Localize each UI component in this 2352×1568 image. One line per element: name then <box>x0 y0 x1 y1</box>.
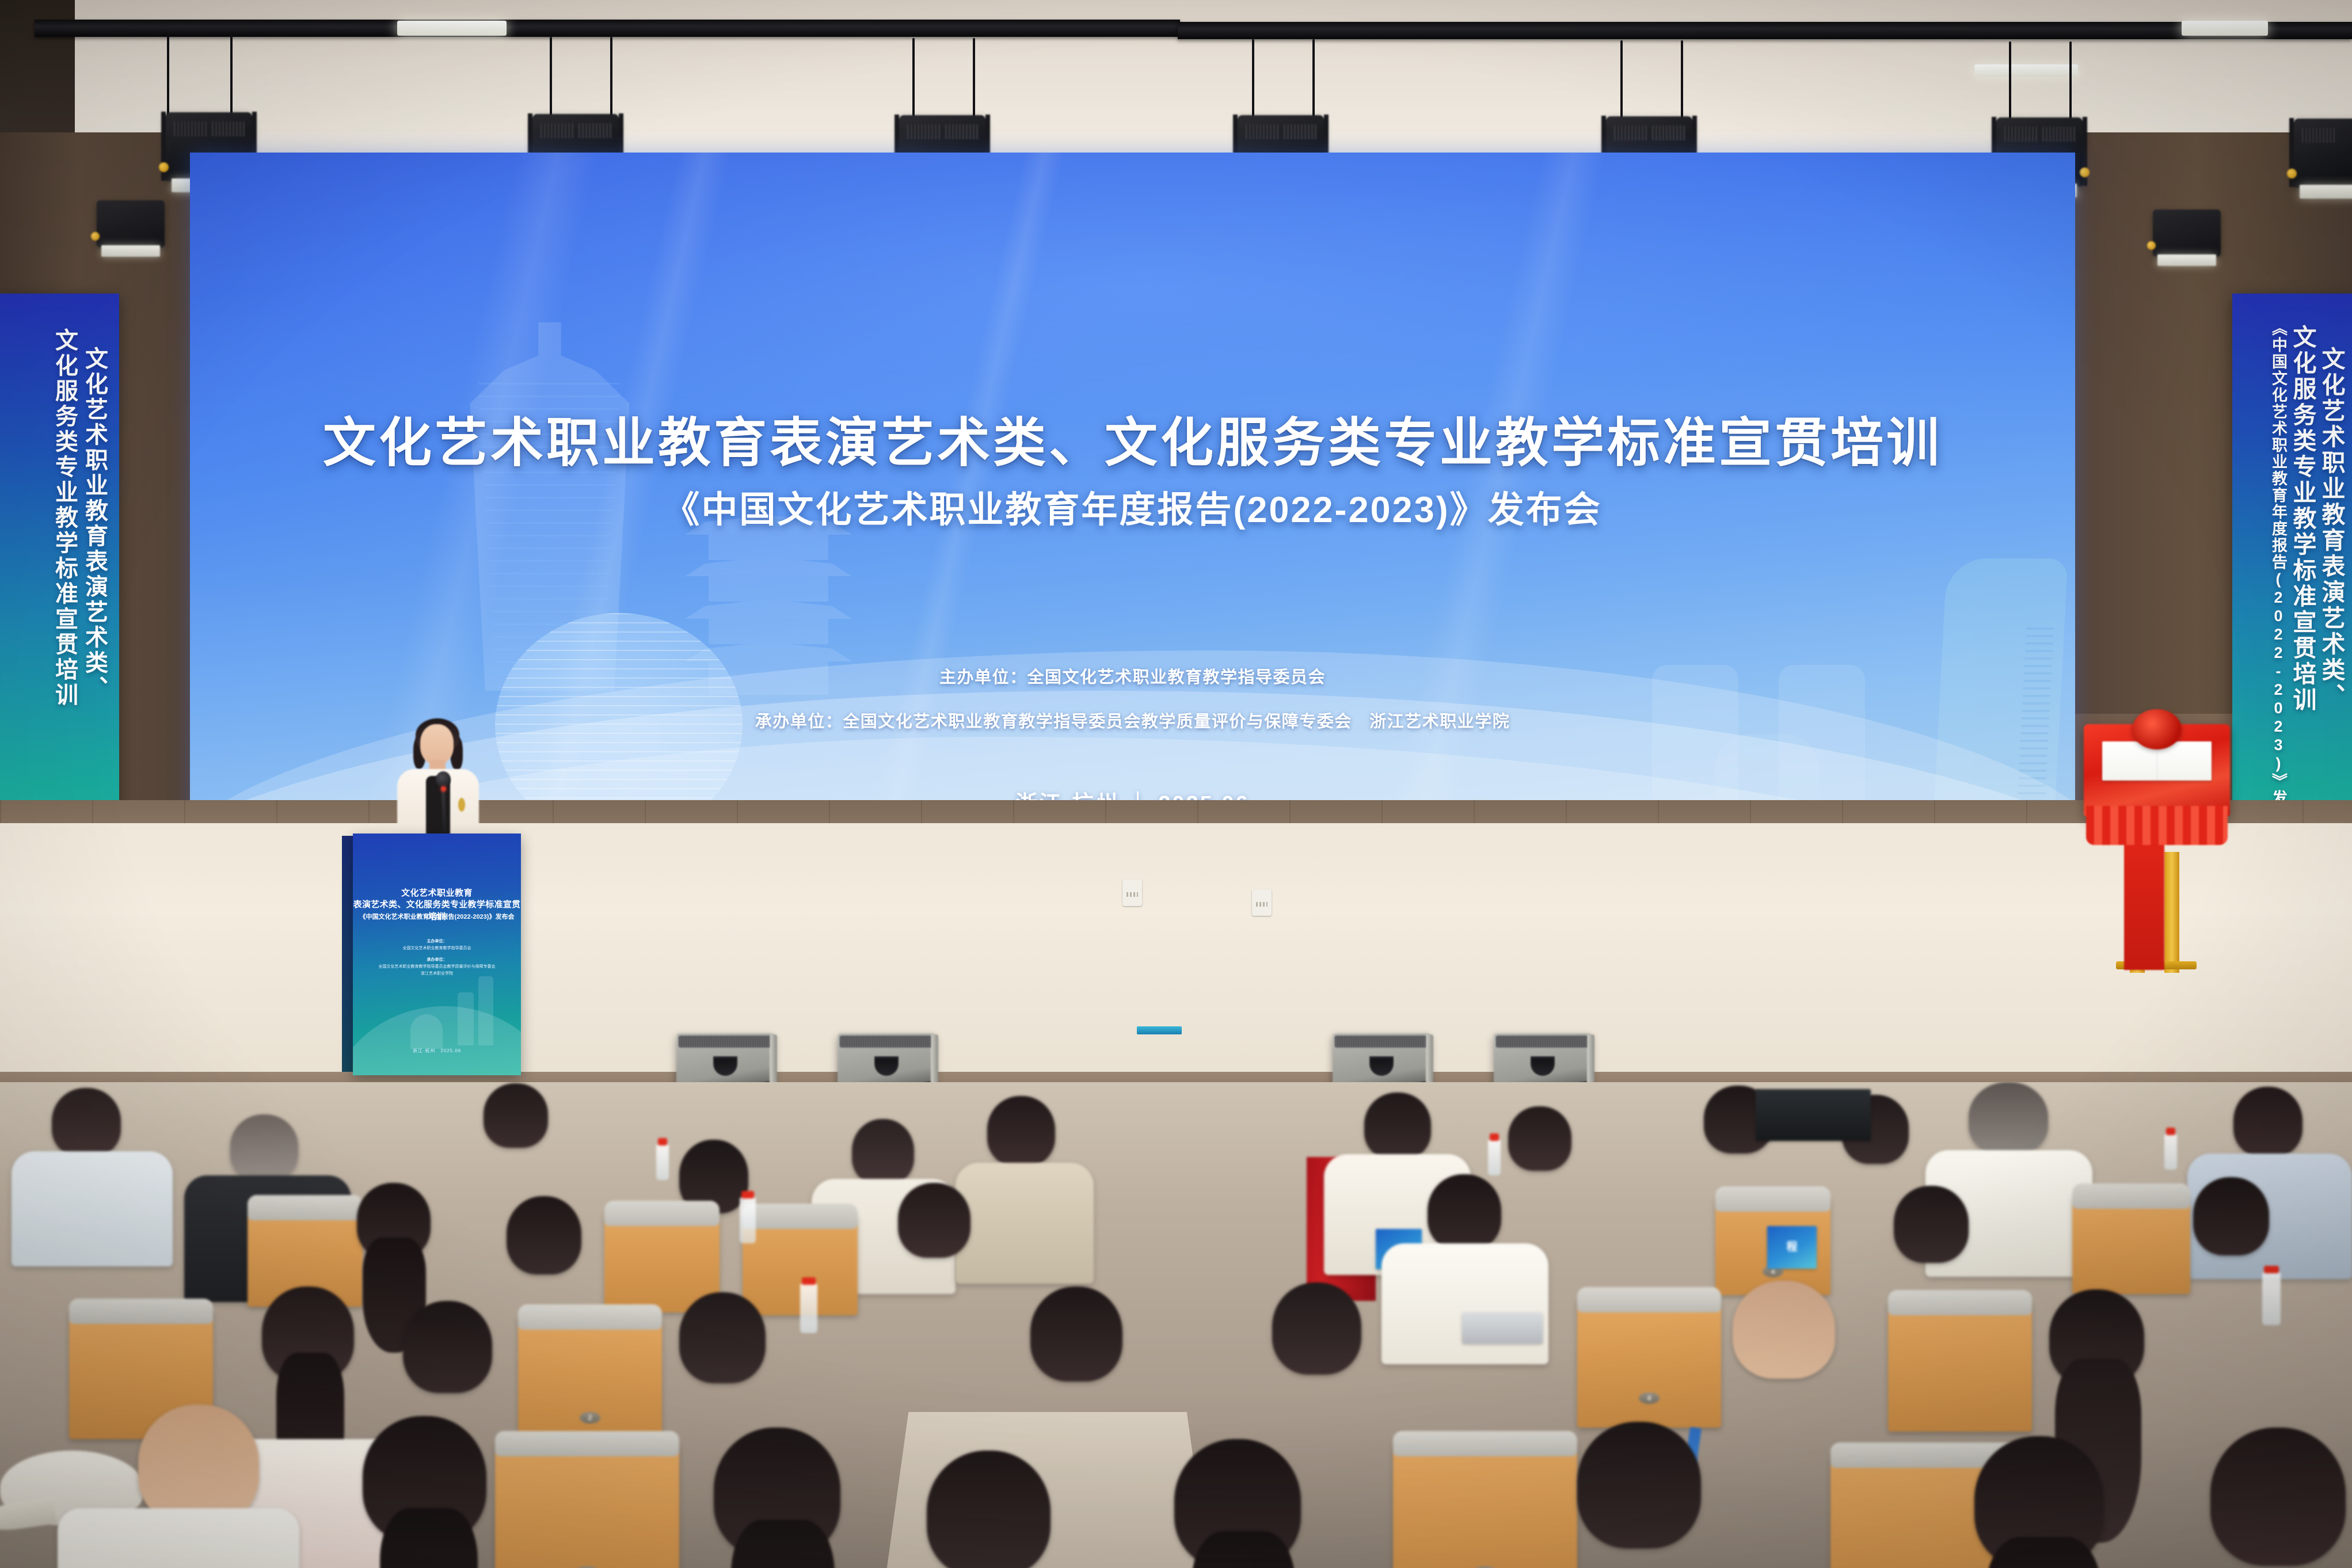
audience-shoulders <box>956 1163 1094 1284</box>
program-booklet: 程 <box>1767 1226 1817 1269</box>
audience-head <box>230 1114 298 1181</box>
unveiling-cloth-skirt <box>2086 806 2228 845</box>
audience-head <box>403 1301 492 1393</box>
screen-subtitle: 《中国文化艺术职业教育年度报告(2022-2023)》发布会 <box>190 481 2075 533</box>
screen-main-title: 文化艺术职业教育表演艺术类、文化服务类专业教学标准宣贯培训 <box>190 400 2075 477</box>
audience-head <box>2233 1087 2302 1157</box>
speaker-head <box>420 724 454 764</box>
audience-head <box>2193 1177 2269 1255</box>
podium-organizer-value: 全国文化艺术职业教育教学指导委员会 <box>353 945 521 951</box>
laptop <box>1462 1312 1543 1344</box>
right-banner-column-3: 《中国文化艺术职业教育年度报告(2022-2023)》发布会 <box>2267 320 2290 840</box>
audience-head <box>1733 1281 1835 1379</box>
podium-organizer-label: 主办单位： <box>353 938 521 944</box>
water-bottle <box>800 1284 817 1333</box>
microphone-head <box>436 771 451 787</box>
screen-organizer-line: 主办单位：全国文化艺术职业教育教学指导委员会 <box>190 664 2075 688</box>
audience-head <box>484 1083 548 1148</box>
audience-head <box>852 1119 914 1185</box>
auditorium-seat: 2 <box>518 1312 662 1448</box>
floor-marker-tape <box>1137 1026 1182 1034</box>
microphone-led-icon <box>441 786 446 791</box>
left-banner-column-1: 文化艺术职业教育表演艺术类、 <box>78 347 111 701</box>
ceiling-light-strip <box>1974 64 2078 77</box>
audience-head <box>1364 1093 1431 1159</box>
seat-number: 2 <box>580 1412 600 1424</box>
water-bottle <box>2262 1272 2281 1325</box>
audience-head <box>679 1292 766 1383</box>
lighting-truss-left <box>35 20 1180 37</box>
laptop <box>1756 1089 1871 1141</box>
audience-area: 4 程 2 4 2 4 <box>0 1082 2352 1568</box>
screen-host-line: 承办单位：全国文化艺术职业教育教学指导委员会教学质量评价与保障专委会 浙江艺术职… <box>190 708 2075 732</box>
conference-hall-photo: 文化艺术职业教育表演艺术类、文化服务类专业教学标准宣贯培训 《中国文化艺术职业教… <box>0 0 2352 1568</box>
audience-head <box>1428 1174 1501 1250</box>
audience-head <box>52 1088 121 1157</box>
lighting-truss-right <box>1178 22 2352 39</box>
audience-head <box>898 1183 971 1258</box>
wall-outlet-plate <box>1252 889 1272 916</box>
wall-outlet-plate <box>1122 880 1142 906</box>
seat-number: 4 <box>1639 1392 1660 1404</box>
stage-light-fixture-small <box>97 200 165 248</box>
left-banner-column-2: 文化服务类专业教学标准宣贯培训 <box>48 328 81 708</box>
stage-light-fixture <box>2294 119 2352 188</box>
auditorium-seat <box>2072 1192 2190 1294</box>
audience-head <box>1577 1422 1701 1548</box>
easel-leg <box>2164 852 2179 973</box>
water-bottle <box>1488 1140 1501 1175</box>
stage-light-fixture-small <box>2153 210 2221 257</box>
audience-ponytail <box>380 1508 478 1568</box>
speaker-brooch <box>458 798 465 812</box>
auditorium-seat: 4 <box>1393 1439 1577 1568</box>
podium-host-value-2: 浙江艺术职业学院 <box>353 971 521 976</box>
auditorium-seat: 2 <box>495 1439 679 1568</box>
podium-place-line: 浙江·杭州 2025.06 <box>353 1048 521 1054</box>
audience-head <box>138 1405 259 1525</box>
podium-host-label: 承办单位： <box>353 957 521 962</box>
audience-head <box>927 1451 1051 1568</box>
auditorium-seat: 4 <box>1577 1295 1721 1428</box>
podium: 文化艺术职业教育 表演艺术类、文化服务类专业教学标准宣贯培训 《中国文化艺术职业… <box>353 834 521 1075</box>
podium-title-line-1: 文化艺术职业教育 <box>353 886 521 899</box>
podium-host-value-1: 全国文化艺术职业教育教学指导委员会教学质量评价与保障专委会 <box>353 964 521 969</box>
audience-head <box>507 1196 581 1274</box>
podium-subtitle: 《中国文化艺术职业教育年度报告(2022-2023)》发布会 <box>353 912 521 921</box>
audience-shoulders <box>1381 1243 1548 1364</box>
auditorium-seat <box>1888 1298 2032 1432</box>
audience-head <box>1969 1082 2048 1155</box>
unveiling-red-bow <box>2132 709 2182 749</box>
ceiling-light-strip <box>2182 21 2268 36</box>
audience-head <box>1894 1186 1969 1263</box>
audience-shoulders <box>12 1151 173 1266</box>
audience-head <box>1272 1282 1361 1375</box>
audience-head <box>987 1096 1055 1166</box>
water-bottle <box>656 1144 669 1180</box>
audience-shoulders <box>58 1508 299 1568</box>
ceiling-light-strip <box>397 21 507 36</box>
unveiling-cloth-tail <box>2124 838 2164 970</box>
audience-ponytail <box>731 1520 835 1568</box>
audience-head <box>1030 1287 1122 1381</box>
water-bottle <box>2164 1134 2177 1170</box>
right-banner-column-2: 文化服务类专业教学标准宣贯培训 <box>2285 325 2320 713</box>
led-screen: 文化艺术职业教育表演艺术类、文化服务类专业教学标准宣贯培训 《中国文化艺术职业教… <box>190 153 2075 823</box>
audience-head <box>2210 1428 2346 1566</box>
water-bottle <box>740 1197 756 1243</box>
audience-head <box>1508 1106 1571 1171</box>
